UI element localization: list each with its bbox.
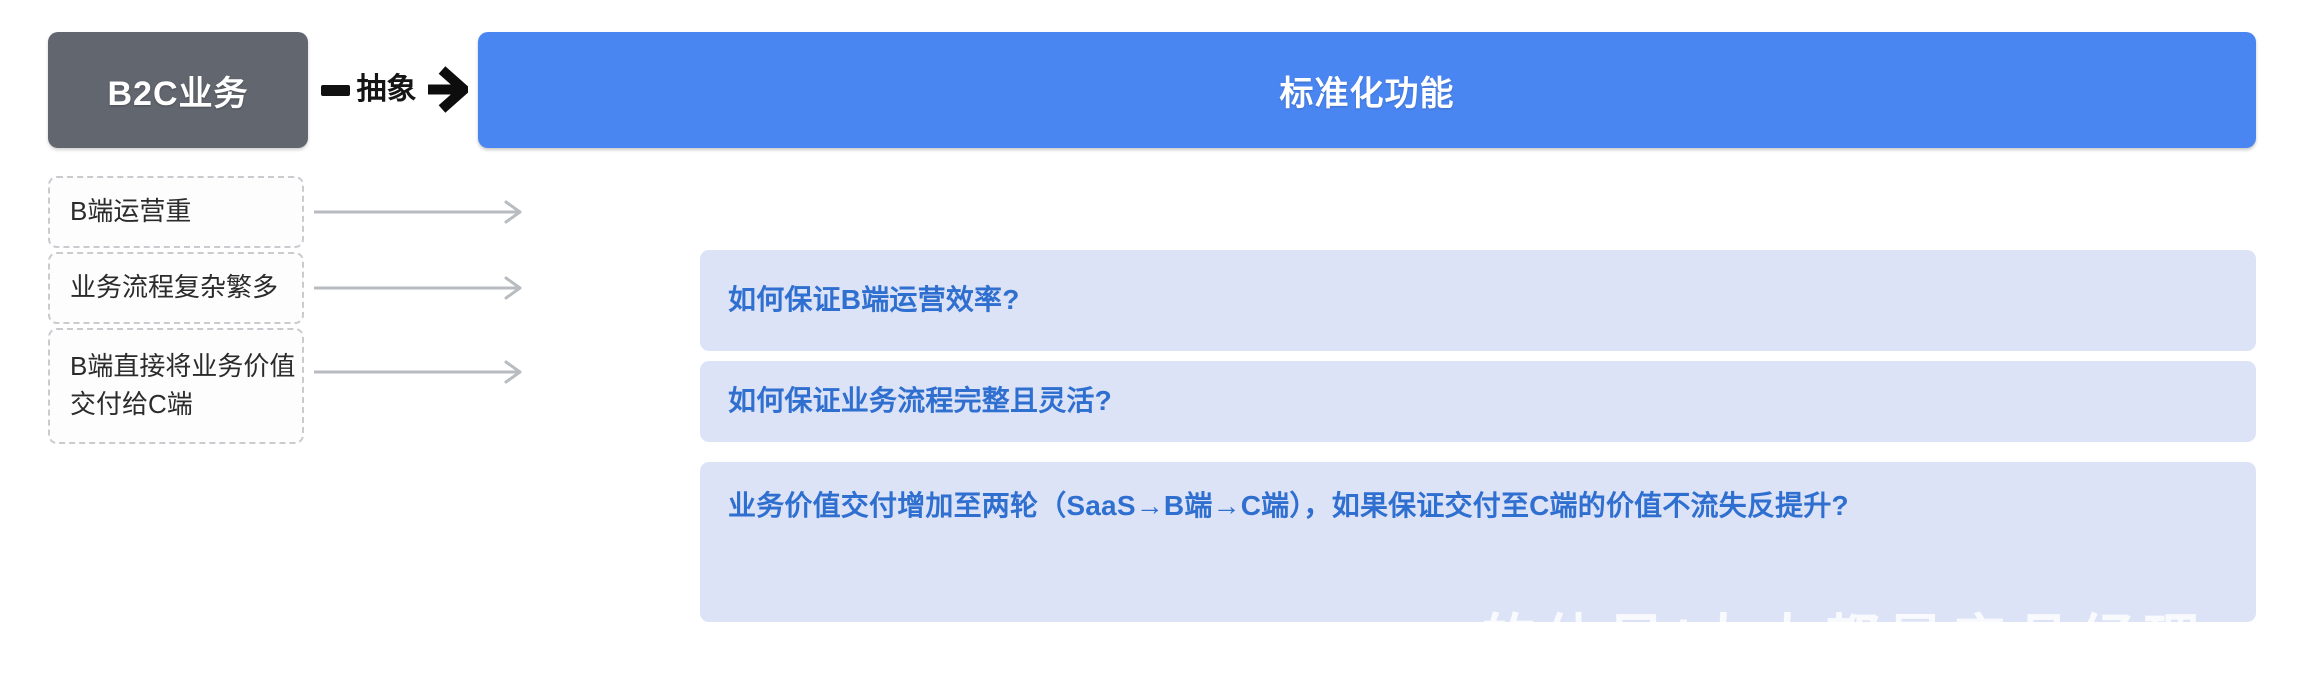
problem-card: B端运营重	[48, 176, 304, 248]
target-capability-box: 标准化功能	[478, 32, 2256, 148]
question-row: 业务价值交付增加至两轮（SaaS→B端→C端），如果保证交付至C端的价值不流失反…	[700, 462, 2256, 622]
problem-card-label: B端直接将业务价值 交付给C端	[70, 348, 295, 423]
question-row-label: 业务价值交付增加至两轮（SaaS→B端→C端），如果保证交付至C端的价值不流失反…	[728, 488, 1849, 524]
arrow-right-icon	[312, 274, 534, 302]
bold-right-arrow-icon	[424, 65, 468, 115]
arrow-right-icon	[312, 198, 534, 226]
question-row: 如何保证业务流程完整且灵活?	[700, 361, 2256, 442]
problem-card: B端直接将业务价值 交付给C端	[48, 328, 304, 444]
abstraction-label: 抽象	[357, 75, 417, 105]
question-row: 如何保证B端运营效率?	[700, 250, 2256, 351]
thick-dash-icon	[321, 85, 350, 96]
source-domain-box: B2C业务	[48, 32, 308, 148]
arrow-right-icon	[312, 358, 534, 386]
diagram-canvas: B2C业务 抽象 标准化功能 B端运营重 如何保证B端运营效率? 业务流程复杂繁…	[0, 0, 2304, 674]
source-domain-label: B2C业务	[107, 66, 248, 115]
problem-card-label: 业务流程复杂繁多	[70, 269, 278, 307]
question-row-label: 如何保证业务流程完整且灵活?	[728, 383, 1112, 419]
problem-card: 业务流程复杂繁多	[48, 252, 304, 324]
abstraction-connector: 抽象	[310, 32, 478, 148]
question-row-label: 如何保证B端运营效率?	[728, 282, 1020, 318]
target-capability-label: 标准化功能	[1280, 66, 1455, 115]
problem-card-label: B端运营重	[70, 193, 191, 231]
